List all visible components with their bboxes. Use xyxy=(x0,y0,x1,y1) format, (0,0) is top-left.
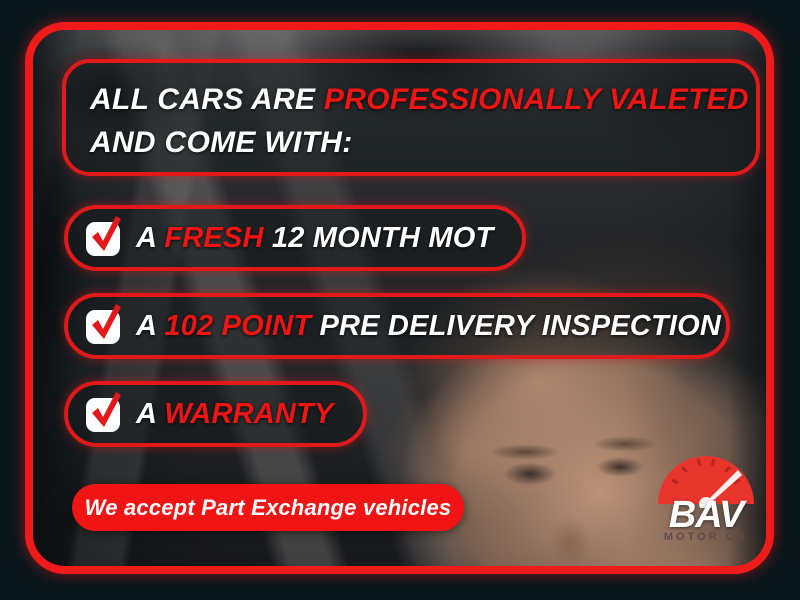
headline-panel: ALL CARS ARE PROFESSIONALLY VALETED AND … xyxy=(62,59,760,176)
feature-1-prefix: A xyxy=(136,222,164,254)
feature-pill-inspection-label: A 102 POINT PRE DELIVERY INSPECTION xyxy=(136,310,721,343)
promo-banner: ALL CARS ARE PROFESSIONALLY VALETED AND … xyxy=(0,0,800,600)
feature-1-highlight: FRESH xyxy=(164,222,263,254)
feature-3-prefix: A xyxy=(136,398,164,430)
headline-line-1: ALL CARS ARE PROFESSIONALLY VALETED xyxy=(90,79,756,122)
part-exchange-button[interactable]: We accept Part Exchange vehicles xyxy=(72,484,464,531)
checkbox-checked-icon xyxy=(86,220,122,256)
headline-line-1-white: ALL CARS ARE xyxy=(90,83,324,116)
feature-3-highlight: WARRANTY xyxy=(164,398,333,430)
feature-2-prefix: A xyxy=(136,310,164,342)
part-exchange-label: We accept Part Exchange vehicles xyxy=(85,495,452,521)
check-mark-icon xyxy=(84,213,126,257)
feature-1-suffix: 12 MONTH MOT xyxy=(264,222,494,254)
headline-line-1-red: PROFESSIONALLY VALETED xyxy=(324,83,749,116)
feature-pill-warranty: A WARRANTY xyxy=(64,381,367,447)
headline-line-2: AND COME WITH: xyxy=(90,122,756,165)
check-mark-icon xyxy=(84,301,126,345)
checkbox-checked-icon xyxy=(86,396,122,432)
check-mark-icon xyxy=(84,389,126,433)
logo-tagline: MOTOR CO xyxy=(650,532,762,543)
logo-wordmark: BAV xyxy=(650,496,762,534)
feature-pill-mot: A FRESH 12 MONTH MOT xyxy=(64,205,526,271)
feature-pill-mot-label: A FRESH 12 MONTH MOT xyxy=(136,222,493,255)
banner-content: ALL CARS ARE PROFESSIONALLY VALETED AND … xyxy=(0,0,800,600)
checkbox-checked-icon xyxy=(86,308,122,344)
feature-pill-warranty-label: A WARRANTY xyxy=(136,398,333,431)
bav-motor-co-logo: BAV MOTOR CO xyxy=(650,452,762,552)
feature-2-highlight: 102 POINT xyxy=(164,310,311,342)
feature-pill-inspection: A 102 POINT PRE DELIVERY INSPECTION xyxy=(64,293,730,359)
feature-2-suffix: PRE DELIVERY INSPECTION xyxy=(311,310,721,342)
